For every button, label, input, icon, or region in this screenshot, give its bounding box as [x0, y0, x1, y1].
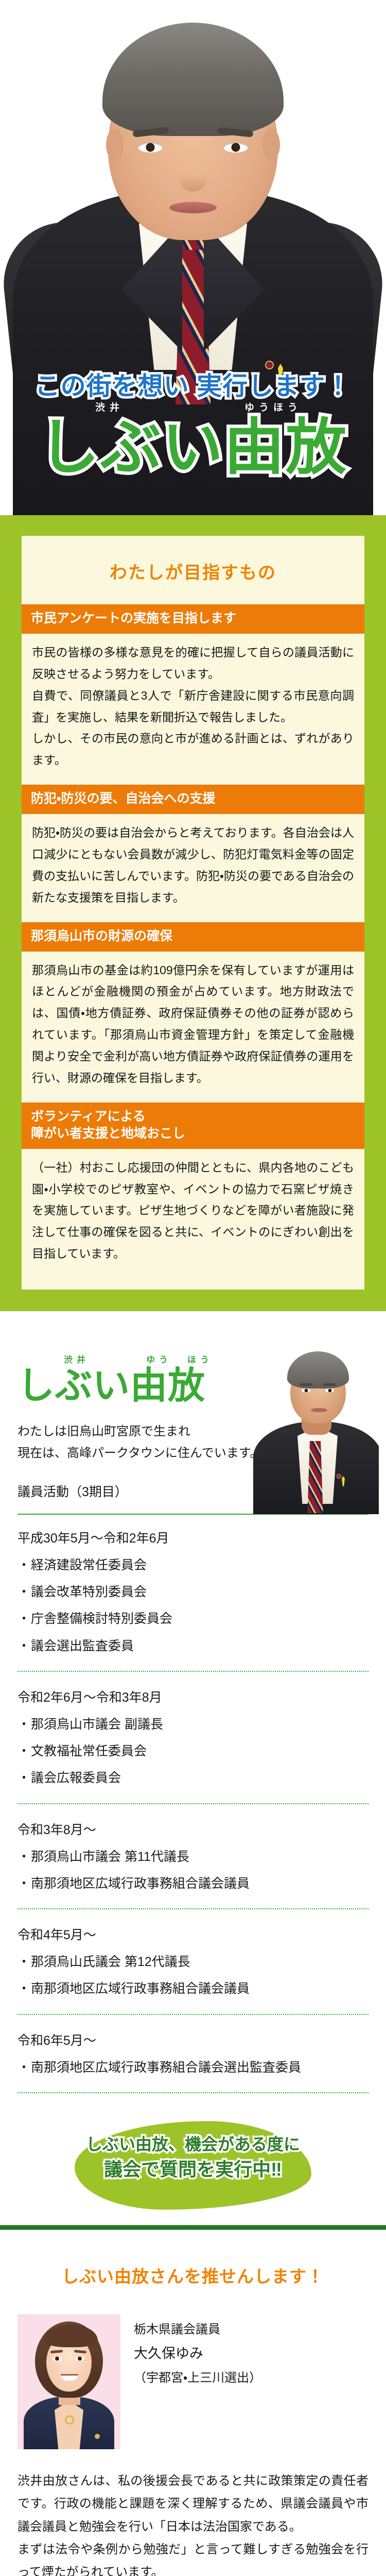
career-divider-dotted: [17, 2092, 369, 2093]
policy-item-heading: 市民アンケートの実施を目指します: [22, 604, 364, 634]
profile-ruby-row: 渋井 ゆう ほう: [17, 1352, 234, 1365]
career-divider-dotted: [17, 1908, 369, 1909]
policy-item: 市民アンケートの実施を目指します 市民の皆様の多様な意見を的確に把握して自らの議…: [22, 604, 364, 785]
career-role-item: 南那須地区広域行政事務組合議会選出監査委員: [17, 2058, 369, 2077]
career-role-item: 議会選出監査委員: [17, 1637, 369, 1655]
slogan-line-1: しぶい由放、機会がある度に: [17, 2132, 369, 2156]
profile-ruby-given-2: ほう: [187, 1352, 213, 1365]
career-role-item: 文教福祉常任委員会: [17, 1742, 369, 1760]
endorsement-body: 渋井由放さんは、私の後援会長であると共に政策策定の責任者です。行政の機能と課題を…: [17, 2449, 369, 2576]
career-divider-dotted: [17, 1671, 369, 1672]
profile-header: 渋井 ゆう ほう しぶい由放 わたしは旧烏山町宮原で生まれ 現在は、高峰パークタ…: [17, 1335, 369, 1500]
career-role-list: 経済建設常任委員会 議会改革特別委員会 庁舎整備検討特別委員会 議会選出監査委員: [17, 1556, 369, 1655]
profile-portrait-badge-icon: [337, 1474, 341, 1479]
endorser-necklace-icon: [65, 2415, 74, 2425]
hero-ruby-row: 渋井 ゆうほう: [28, 403, 358, 416]
career-term-period: 令和4年5月〜: [17, 1925, 369, 1943]
career-term-period: 令和6年5月〜: [17, 2030, 369, 2049]
profile-section: 渋井 ゆう ほう しぶい由放 わたしは旧烏山町宮原で生まれ 現在は、高峰パークタ…: [0, 1311, 386, 1505]
hero-ruby-surname: 渋井: [95, 403, 124, 413]
career-role-list: 那須烏山市議会 第11代議長 南那須地区広域行政事務組合議会議員: [17, 1848, 369, 1893]
career-role-list: 那須烏山市議会 副議長 文教福祉常任委員会 議会広報委員会: [17, 1715, 369, 1788]
endorser-name: 大久保ゆみ: [134, 2341, 261, 2367]
career-term-block: 令和6年5月〜 南那須地区広域行政事務組合議会選出監査委員: [17, 2030, 369, 2077]
profile-portrait-mouth: [311, 1408, 327, 1412]
hero-candidate-name: しぶい由放: [0, 417, 386, 478]
endorser-eye-left: [52, 2357, 62, 2361]
profile-portrait-eyebrow-right: [323, 1383, 336, 1386]
endorsement-section: しぶい由放さんを推せんします！ 栃木県議会議員 大久保ゆみ （: [0, 2230, 386, 2576]
career-term-period: 令和3年8月〜: [17, 1820, 369, 1838]
profile-portrait-photo: [250, 1344, 379, 1514]
slogan-text: しぶい由放、機会がある度に 議会で質問を実行中‼: [17, 2132, 369, 2183]
profile-portrait-eye-left: [302, 1388, 310, 1393]
career-role-item: 那須烏山市議会 第11代議長: [17, 1848, 369, 1866]
policy-item: 那須烏山市の財源の確保 那須烏山市の基金は約109億円余を保有していますが運用は…: [22, 922, 364, 1103]
endorser-eye-right: [75, 2357, 84, 2361]
policy-section: わたしが目指すもの 市民アンケートの実施を目指します 市民の皆様の多様な意見を的…: [0, 515, 386, 1311]
career-term-block: 令和4年5月〜 那須烏山氏議会 第12代議長 南那須地区広域行政事務組合議会議員: [17, 1925, 369, 1998]
endorser-photo: [17, 2314, 120, 2449]
career-role-item: 議会広報委員会: [17, 1769, 369, 1787]
portrait-hair: [102, 23, 284, 136]
career-role-list: 南那須地区広域行政事務組合議会選出監査委員: [17, 2058, 369, 2077]
endorsement-title: しぶい由放さんを推せんします！: [17, 2255, 369, 2314]
endorser-role: 栃木県議会議員: [134, 2318, 261, 2341]
endorser-meta: 栃木県議会議員 大久保ゆみ （宇都宮・上三川選出）: [134, 2314, 261, 2390]
policy-item-body: 防犯・防災の要は自治会からと考えております。各自治会は人口減少にともない会員数が…: [22, 814, 364, 922]
slogan-line-2: 議会で質問を実行中‼: [17, 2156, 369, 2183]
hero-name-block: 渋井 ゆうほう しぶい由放: [0, 403, 386, 478]
career-role-item: 庁舎整備検討特別委員会: [17, 1609, 369, 1628]
policy-item-body: 那須烏山市の基金は約109億円余を保有していますが運用はほとんどが金融機関の預金…: [22, 952, 364, 1103]
portrait-eye-left: [138, 142, 163, 152]
policy-item-body: 市民の皆様の多様な意見を的確に把握して自らの議員活動に反映させるよう努力をしてい…: [22, 634, 364, 785]
career-role-item: 議会改革特別委員会: [17, 1583, 369, 1601]
career-term-period: 令和2年6月〜令和3年8月: [17, 1687, 369, 1706]
career-term-block: 平成30年5月〜令和2年6月 経済建設常任委員会 議会改革特別委員会 庁舎整備検…: [17, 1528, 369, 1655]
portrait-mouth: [169, 202, 217, 213]
policy-card: わたしが目指すもの 市民アンケートの実施を目指します 市民の皆様の多様な意見を的…: [22, 536, 364, 1290]
career-role-item: 那須烏山市議会 副議長: [17, 1715, 369, 1734]
hero-ruby-given: ゆうほう: [244, 403, 302, 413]
profile-ruby-surname: 渋井: [64, 1352, 90, 1365]
career-term-period: 平成30年5月〜令和2年6月: [17, 1528, 369, 1547]
policy-item: ボランティアによる障がい者支援と地域おこし （一社）村おこし応援団の仲間とともに…: [22, 1103, 364, 1278]
endorser-district: （宇都宮・上三川選出）: [134, 2367, 261, 2389]
endorsement-divider: [0, 2225, 386, 2230]
endorser-chest: [55, 2401, 83, 2449]
hero-section: この街を想い 実行します！ 渋井 ゆうほう しぶい由放: [0, 0, 386, 515]
hero-catchphrase: この街を想い 実行します！: [0, 366, 386, 402]
portrait-ear-left: [106, 129, 124, 161]
slogan-stamp: しぶい由放、機会がある度に 議会で質問を実行中‼: [17, 2117, 369, 2215]
campaign-flyer: この街を想い 実行します！ 渋井 ゆうほう しぶい由放 わたしが目指すもの 市民…: [0, 0, 386, 2576]
career-term-block: 令和2年6月〜令和3年8月 那須烏山市議会 副議長 文教福祉常任委員会 議会広報…: [17, 1687, 369, 1788]
policy-item-body: （一社）村おこし応援団の仲間とともに、県内各地のこども園・小学校でのピザ教室や、…: [22, 1149, 364, 1278]
policy-section-title: わたしが目指すもの: [22, 536, 364, 604]
endorser-row: 栃木県議会議員 大久保ゆみ （宇都宮・上三川選出）: [17, 2314, 369, 2449]
profile-ruby-given: ゆう: [146, 1352, 172, 1365]
policy-item-heading: 防犯・防災の要、自治会への支援: [22, 785, 364, 814]
career-divider-dotted: [17, 2014, 369, 2015]
career-role-item: 那須烏山氏議会 第12代議長: [17, 1953, 369, 1971]
policy-item-heading: 那須烏山市の財源の確保: [22, 922, 364, 952]
career-role-item: 南那須地区広域行政事務組合議会議員: [17, 1979, 369, 1998]
career-section: 平成30年5月〜令和2年6月 経済建設常任委員会 議会改革特別委員会 庁舎整備検…: [0, 1505, 386, 2225]
career-role-item: 南那須地区広域行政事務組合議会議員: [17, 1874, 369, 1893]
portrait-nose: [179, 155, 207, 192]
endorser-lapel-pin-icon: [95, 2434, 100, 2439]
policy-item: 防犯・防災の要、自治会への支援 防犯・防災の要は自治会からと考えております。各自…: [22, 785, 364, 922]
portrait-ear-right: [262, 129, 280, 161]
career-role-item: 経済建設常任委員会: [17, 1556, 369, 1574]
career-term-block: 令和3年8月〜 那須烏山市議会 第11代議長 南那須地区広域行政事務組合議会議員: [17, 1820, 369, 1893]
profile-portrait-eyebrow-left: [300, 1383, 312, 1386]
career-role-list: 那須烏山氏議会 第12代議長 南那須地区広域行政事務組合議会議員: [17, 1953, 369, 1998]
profile-portrait-eye-right: [325, 1388, 334, 1393]
portrait-eye-right: [223, 142, 248, 152]
profile-portrait-hair: [287, 1351, 349, 1388]
policy-item-heading: ボランティアによる障がい者支援と地域おこし: [22, 1103, 364, 1149]
career-divider-dotted: [17, 1803, 369, 1804]
